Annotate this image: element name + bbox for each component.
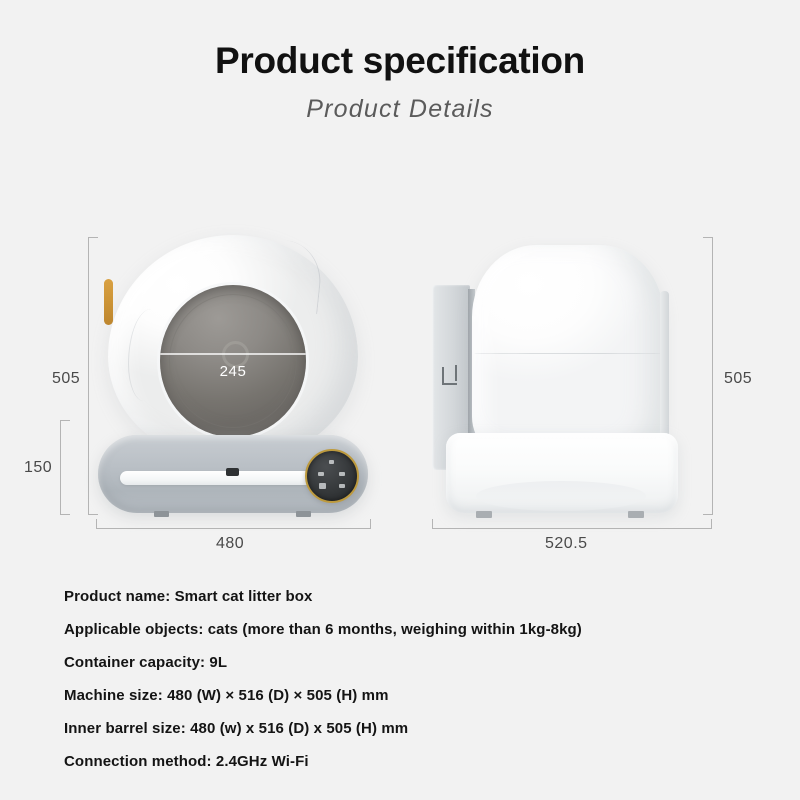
front-height-label: 505 <box>52 370 80 388</box>
side-height-tick-top <box>703 237 713 238</box>
page-subtitle: Product Details <box>0 81 800 124</box>
side-depth-tick-left <box>432 519 433 529</box>
side-height-tick-bottom <box>703 514 713 515</box>
control-dial[interactable] <box>305 449 359 503</box>
base-foot <box>296 511 311 517</box>
dial-glyphs <box>307 451 357 501</box>
front-width-label: 480 <box>216 535 244 553</box>
side-body-shell <box>472 245 664 463</box>
measure-line <box>160 353 306 355</box>
side-base-foot <box>628 511 644 518</box>
side-depth-tick-right <box>711 519 712 529</box>
side-rail <box>660 291 669 443</box>
spec-inner-barrel-size: Inner barrel size: 480 (w) x 516 (D) x 5… <box>64 720 764 737</box>
dial-glyph-icon <box>329 460 334 464</box>
base-height-label: 150 <box>24 459 52 477</box>
front-height-tick-top <box>88 237 98 238</box>
front-view-illustration: 245 <box>98 235 368 525</box>
base-height-tick-bottom <box>60 514 70 515</box>
dial-glyph-icon <box>339 484 345 488</box>
base-unit <box>98 435 368 513</box>
front-height-tick-bottom <box>88 514 98 515</box>
page-title: Product specification <box>0 0 800 81</box>
spec-container-capacity: Container capacity: 9L <box>64 654 764 671</box>
specification-list: Product name: Smart cat litter box Appli… <box>64 588 764 786</box>
side-depth-label: 520.5 <box>545 535 588 553</box>
side-base-foot <box>476 511 492 518</box>
side-seam-icon <box>474 353 662 354</box>
front-width-tick-left <box>96 519 97 529</box>
spec-product-name: Product name: Smart cat litter box <box>64 588 764 605</box>
litter-chamber-opening: 245 <box>160 285 306 437</box>
spec-machine-size: Machine size: 480 (W) × 516 (D) × 505 (H… <box>64 687 764 704</box>
l-bracket-mark-icon <box>455 365 457 381</box>
front-width-tick-right <box>370 519 371 529</box>
waste-drawer-slot <box>120 471 320 485</box>
base-height-bracket <box>60 420 61 515</box>
dial-glyph-icon <box>339 472 345 476</box>
side-base-curve <box>476 481 646 511</box>
sensor-strip-icon <box>104 279 113 325</box>
side-height-label: 505 <box>724 370 752 388</box>
product-diagram: 245 505 150 480 <box>0 215 800 560</box>
front-width-bracket <box>96 528 371 529</box>
indicator-icon <box>226 468 239 476</box>
side-view-illustration <box>432 235 700 525</box>
opening-dimension-label: 245 <box>160 363 306 380</box>
spec-connection-method: Connection method: 2.4GHz Wi-Fi <box>64 753 764 770</box>
base-foot <box>154 511 169 517</box>
dial-glyph-icon <box>318 472 324 476</box>
spec-applicable-objects: Applicable objects: cats (more than 6 mo… <box>64 621 764 638</box>
side-depth-bracket <box>432 528 712 529</box>
base-height-tick-top <box>60 420 70 421</box>
front-height-bracket <box>88 237 89 515</box>
dial-glyph-icon <box>319 483 326 489</box>
page-header: Product specification Product Details <box>0 0 800 124</box>
side-height-bracket <box>712 237 713 515</box>
